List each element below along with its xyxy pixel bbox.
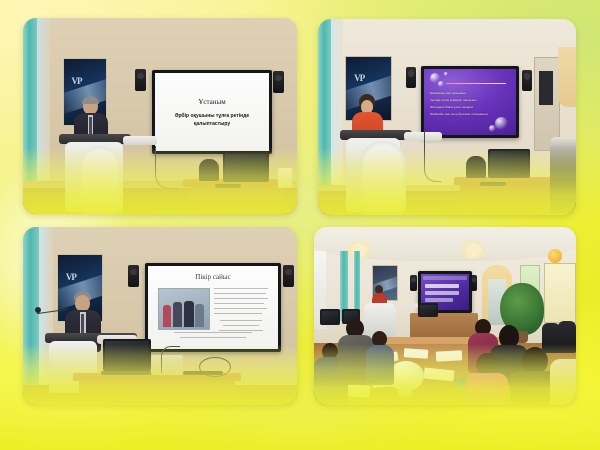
screen-cable: [424, 131, 441, 182]
speaker-left: [406, 67, 416, 88]
side-equipment: [278, 168, 292, 188]
speaker-right: [522, 70, 532, 91]
paper-2: [404, 348, 429, 359]
wall-screen-frame: Ұстаным Әрбір оқушыны тұлға ретінде қалы…: [152, 70, 272, 154]
participant-left-3: [366, 331, 394, 385]
teal-column-2: [354, 251, 360, 317]
slide-top-left: Ұстаным Әрбір оқушыны тұлға ретінде қалы…: [155, 73, 269, 151]
group-person-2: [173, 302, 182, 327]
slide-text-block: [214, 286, 268, 332]
slide-title: Ұстаным: [198, 98, 225, 106]
chair-right-2: [558, 321, 576, 353]
wall-screen: Пікір сайыс: [148, 266, 278, 349]
slide-row-2: [425, 291, 459, 295]
wall-emblem: [548, 249, 562, 263]
slide-text-line: [214, 313, 262, 314]
microphone-head: [35, 307, 41, 313]
collage-canvas: VP Ұстаным Әрбір оқушыны тұлға ретінде қ…: [0, 0, 600, 450]
monitor: [223, 152, 269, 182]
group-person-1: [163, 305, 171, 327]
poster-text: VP: [354, 73, 364, 83]
monitor: [488, 149, 530, 178]
notice-board: [544, 263, 576, 323]
vase: [398, 385, 412, 397]
foreground-attendee: [550, 137, 576, 213]
scene-bottom-left: VP Пікір сайыс: [23, 227, 297, 405]
slide-text-line: [214, 298, 268, 299]
monitor-screen: [490, 151, 528, 176]
monitor-screen: [225, 154, 267, 180]
participant-body: [466, 373, 508, 405]
wall-screen: Қазақтың мен қызымын Тұлпар күлім күркір…: [424, 69, 516, 135]
wall-edge: [331, 19, 343, 197]
group-person-4: [195, 304, 204, 327]
slide-text-line: [214, 308, 267, 309]
wall-arch: [558, 47, 576, 107]
slide-title: Пікір сайыс: [195, 273, 230, 281]
lab-monitor-1: [320, 309, 340, 325]
speaker-left: [128, 265, 139, 287]
slide-body-line2: қалыптастыру: [194, 121, 230, 127]
desk: [79, 380, 235, 405]
slide-header-bar: [423, 276, 467, 280]
wall-edge: [37, 18, 50, 193]
bubble-2: [438, 81, 444, 87]
screen-cable: [155, 146, 178, 189]
poem-line-4: Жаһанды мен өлең дүниеме жатқаным: [430, 112, 488, 117]
slide-group-photo: [158, 288, 210, 330]
laptop: [103, 339, 151, 371]
keyboard: [480, 182, 506, 186]
scene-top-right: VP Қазақтың мен қызымын Тұлпар күлім күр…: [318, 19, 576, 215]
laptop-screen: [105, 341, 149, 369]
wall-screen-frame: Қазақтың мен қызымын Тұлпар күлім күркір…: [421, 66, 519, 138]
slide-text-line: [223, 325, 259, 326]
bubble-5: [489, 125, 496, 132]
slide-text-line: [219, 330, 263, 331]
wall-screen-frame: Пікір сайыс: [145, 263, 281, 352]
desk: [460, 184, 550, 212]
photo-top-left: VP Ұстаным Әрбір оқушыны тұлға ретінде қ…: [23, 18, 297, 214]
poem-line-1: Қазақтың мен қызымын: [430, 91, 466, 96]
photo-top-right: VP Қазақтың мен қызымын Тұлпар күлім күр…: [318, 19, 576, 215]
keyboard: [215, 184, 241, 188]
participant-front-1: [466, 353, 508, 405]
lamp-fixture-right: [466, 245, 482, 254]
speaker-left: [135, 69, 146, 91]
desk-chair: [199, 159, 219, 181]
presenter-tie: [81, 314, 84, 335]
poem-line-3: Жасырып бойға ұлан ғасырға: [430, 105, 473, 110]
monitor-screen: [322, 311, 338, 323]
slide-top-right: Қазақтың мен қызымын Тұлпар күлім күркір…: [424, 69, 516, 135]
av-monitor: [418, 303, 438, 317]
equipment-bar: [183, 371, 223, 375]
speaker-right: [273, 71, 284, 93]
bubble-4: [495, 117, 508, 130]
slide-body-line1: Әрбір оқушыны тұлға ретінде: [175, 113, 249, 119]
participant-front-3: [550, 359, 576, 405]
wall-screen: Ұстаным Әрбір оқушыны тұлға ретінде қалы…: [155, 73, 269, 151]
scene-top-left: VP Ұстаным Әрбір оқушыны тұлға ретінде қ…: [23, 18, 297, 214]
bubble-3: [444, 72, 448, 76]
podium-shelf: [394, 303, 418, 308]
photo-bottom-left: VP Пікір сайыс: [23, 227, 297, 405]
speaker-right: [283, 265, 294, 287]
photo-bottom-right: [314, 227, 576, 405]
slide-row-3: [425, 298, 453, 302]
slide-text-line: [214, 288, 268, 289]
slide-divider: [446, 83, 506, 84]
poem-line-2: Тұлпар күлім күркіреп тасқыны: [430, 98, 477, 103]
slide-row-1: [425, 284, 459, 288]
teal-column: [318, 19, 331, 197]
presenter-small: [370, 285, 392, 305]
presenter-hair: [82, 96, 99, 104]
laptop-keyboard: [101, 371, 153, 375]
cabinet-dark-panel: [539, 71, 553, 105]
monitor-screen: [420, 305, 436, 315]
poster-text: VP: [72, 76, 82, 86]
chair-foreground: [360, 141, 406, 215]
slide-bottom-left: Пікір сайыс: [148, 266, 278, 349]
desk-chair: [466, 156, 486, 178]
scene-bottom-right: [314, 227, 576, 405]
group-person-3: [184, 301, 194, 327]
podium-shelf: [123, 136, 157, 145]
teal-column: [23, 18, 37, 193]
screen-cable: [161, 346, 180, 373]
chair-foreground: [79, 146, 121, 214]
slide-text-line: [180, 337, 246, 338]
paper-3: [436, 350, 462, 361]
desk: [189, 186, 285, 213]
participant-body: [366, 345, 394, 385]
speaker-left: [410, 275, 417, 291]
slide-text-line: [220, 320, 262, 321]
slide-text-line: [214, 293, 266, 294]
slide-text-line: [174, 332, 252, 333]
poster-text: VP: [66, 272, 76, 282]
slide-text-line: [214, 303, 264, 304]
